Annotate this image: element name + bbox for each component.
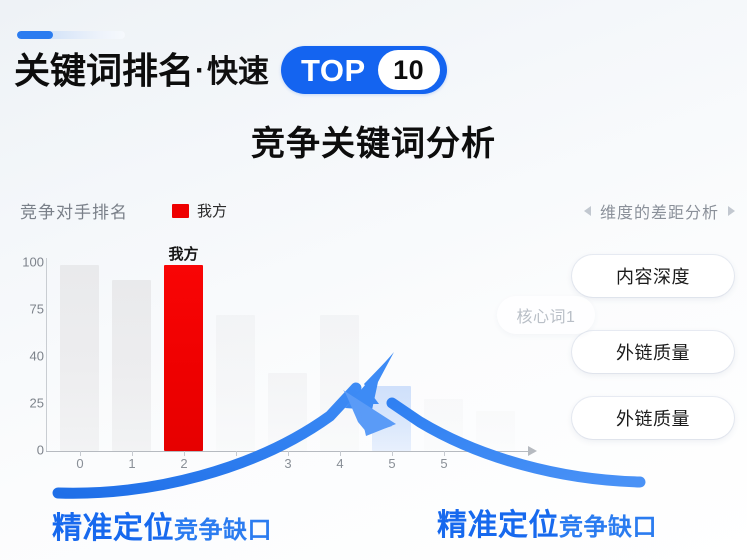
dimension-pill-backlink-quality-1[interactable]: 外链质量 (572, 331, 734, 373)
dimension-pill-backlink-quality-2[interactable]: 外链质量 (572, 397, 734, 439)
legend-item-label: 我方 (197, 200, 227, 221)
caption-left: 精准定位 竞争缺口 (52, 503, 272, 547)
accent-progress-fill (17, 31, 53, 39)
x-axis-tick: 0 (76, 456, 83, 471)
y-axis-labels: 100 75 40 25 0 (0, 248, 44, 460)
legend-item-mine[interactable]: 我方 (172, 200, 227, 221)
bar-group: 我方 (47, 258, 531, 451)
y-axis-tick: 75 (0, 302, 44, 317)
y-axis-tick: 40 (0, 349, 44, 364)
dimension-pill-label: 内容深度 (616, 263, 690, 289)
title-main: 关键词排名 (14, 53, 194, 89)
page-subtitle: 竞争关键词分析 (0, 116, 747, 165)
page-title: 关键词排名 · 快速 (14, 44, 269, 98)
caption-left-rest: 竞争缺口 (174, 510, 272, 545)
caption-right-strong: 精准定位 (437, 500, 559, 544)
top-rank-badge[interactable]: TOP 10 (281, 46, 447, 94)
x-axis-tick: 5 (388, 456, 395, 471)
bar-3[interactable] (216, 315, 255, 451)
core-keyword-ghost-pill[interactable]: 核心词1 (497, 296, 595, 334)
x-axis-tick: 3 (284, 456, 291, 471)
bar-highlight-label: 我方 (168, 243, 198, 264)
title-separator-dot: · (195, 54, 205, 88)
bar-0[interactable] (60, 265, 99, 451)
bar-5[interactable] (320, 315, 359, 451)
y-axis-tick: 100 (0, 255, 44, 270)
y-axis-tick: 0 (0, 443, 44, 458)
y-axis-tick: 25 (0, 396, 44, 411)
top-badge-word: TOP (301, 55, 378, 86)
caption-right: 精准定位 竞争缺口 (437, 500, 657, 544)
legend-section-title: 竞争对手排名 (20, 198, 128, 223)
dimension-pill-label: 外链质量 (616, 405, 690, 431)
legend-swatch-icon (172, 204, 189, 218)
x-axis-tick: 2 (180, 456, 187, 471)
bar-6-target[interactable] (372, 386, 411, 451)
caption-right-rest: 竞争缺口 (559, 507, 657, 542)
x-axis-tick: 1 (128, 456, 135, 471)
bar-8[interactable] (476, 411, 515, 451)
core-keyword-label: 核心词1 (517, 303, 576, 327)
bar-2-mine[interactable]: 我方 (164, 265, 203, 451)
chart-legend: 竞争对手排名 我方 (20, 198, 227, 223)
bar-chart: 100 75 40 25 0 我方 0 1 2 3 4 5 (0, 248, 540, 460)
caption-left-strong: 精准定位 (52, 503, 174, 547)
title-sub: 快速 (207, 56, 269, 87)
accent-progress-bar (17, 31, 125, 39)
top-badge-number: 10 (378, 50, 440, 90)
dimension-panel-title: 维度的差距分析 (600, 199, 719, 223)
bar-4[interactable] (268, 373, 307, 451)
bar-7[interactable] (424, 399, 463, 451)
dimension-pill-content-depth[interactable]: 内容深度 (572, 255, 734, 297)
x-axis-arrow-icon (528, 446, 537, 456)
triangle-right-icon[interactable] (728, 206, 735, 216)
bar-1[interactable] (112, 280, 151, 451)
x-axis-tick: 5 (440, 456, 447, 471)
dimension-panel-header: 维度的差距分析 (584, 199, 735, 223)
dimension-pill-label: 外链质量 (616, 339, 690, 365)
x-axis-tick: 4 (336, 456, 343, 471)
triangle-left-icon[interactable] (584, 206, 591, 216)
